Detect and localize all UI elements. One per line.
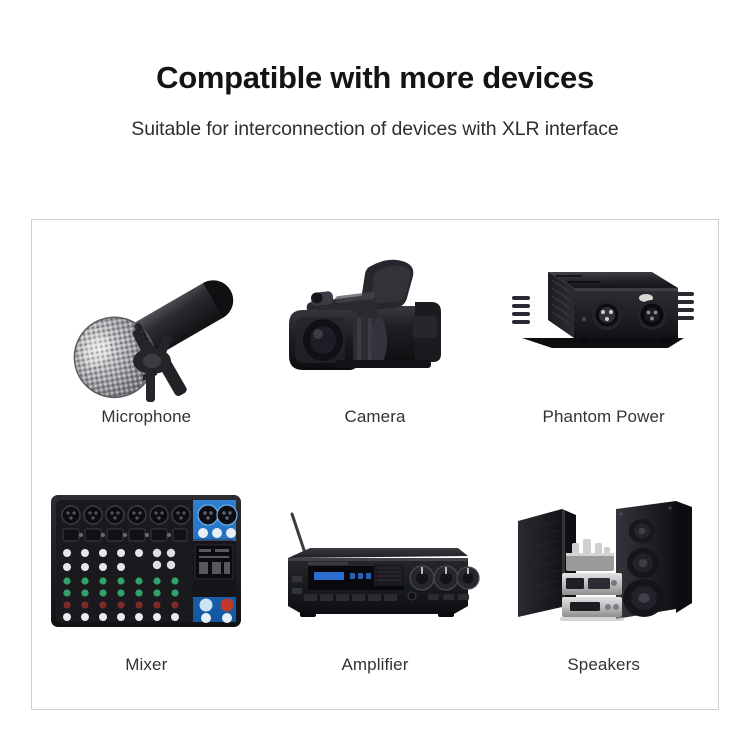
speakers-icon	[489, 465, 718, 647]
device-grid-frame: Microphone	[31, 219, 719, 710]
device-label-phantom-power: Phantom Power	[543, 407, 665, 427]
page-title: Compatible with more devices	[0, 0, 750, 96]
device-grid: Microphone	[32, 220, 718, 709]
device-card-phantom-power: Phantom Power	[489, 220, 718, 465]
device-card-microphone: Microphone	[32, 220, 261, 465]
camcorder-icon	[261, 220, 490, 403]
mixer-icon	[32, 465, 261, 647]
page-subtitle: Suitable for interconnection of devices …	[0, 96, 750, 141]
device-card-amplifier: Amplifier	[261, 465, 490, 710]
device-card-camera: Camera	[261, 220, 490, 465]
device-label-mixer: Mixer	[125, 655, 167, 675]
device-card-mixer: Mixer	[32, 465, 261, 710]
device-label-microphone: Microphone	[101, 407, 191, 427]
infographic-page: Compatible with more devices Suitable fo…	[0, 0, 750, 750]
amplifier-icon	[261, 465, 490, 647]
device-card-speakers: Speakers	[489, 465, 718, 710]
microphone-icon	[32, 220, 261, 403]
phantom-power-icon	[489, 220, 718, 403]
device-label-speakers: Speakers	[567, 655, 640, 675]
device-label-amplifier: Amplifier	[341, 655, 408, 675]
device-label-camera: Camera	[344, 407, 405, 427]
